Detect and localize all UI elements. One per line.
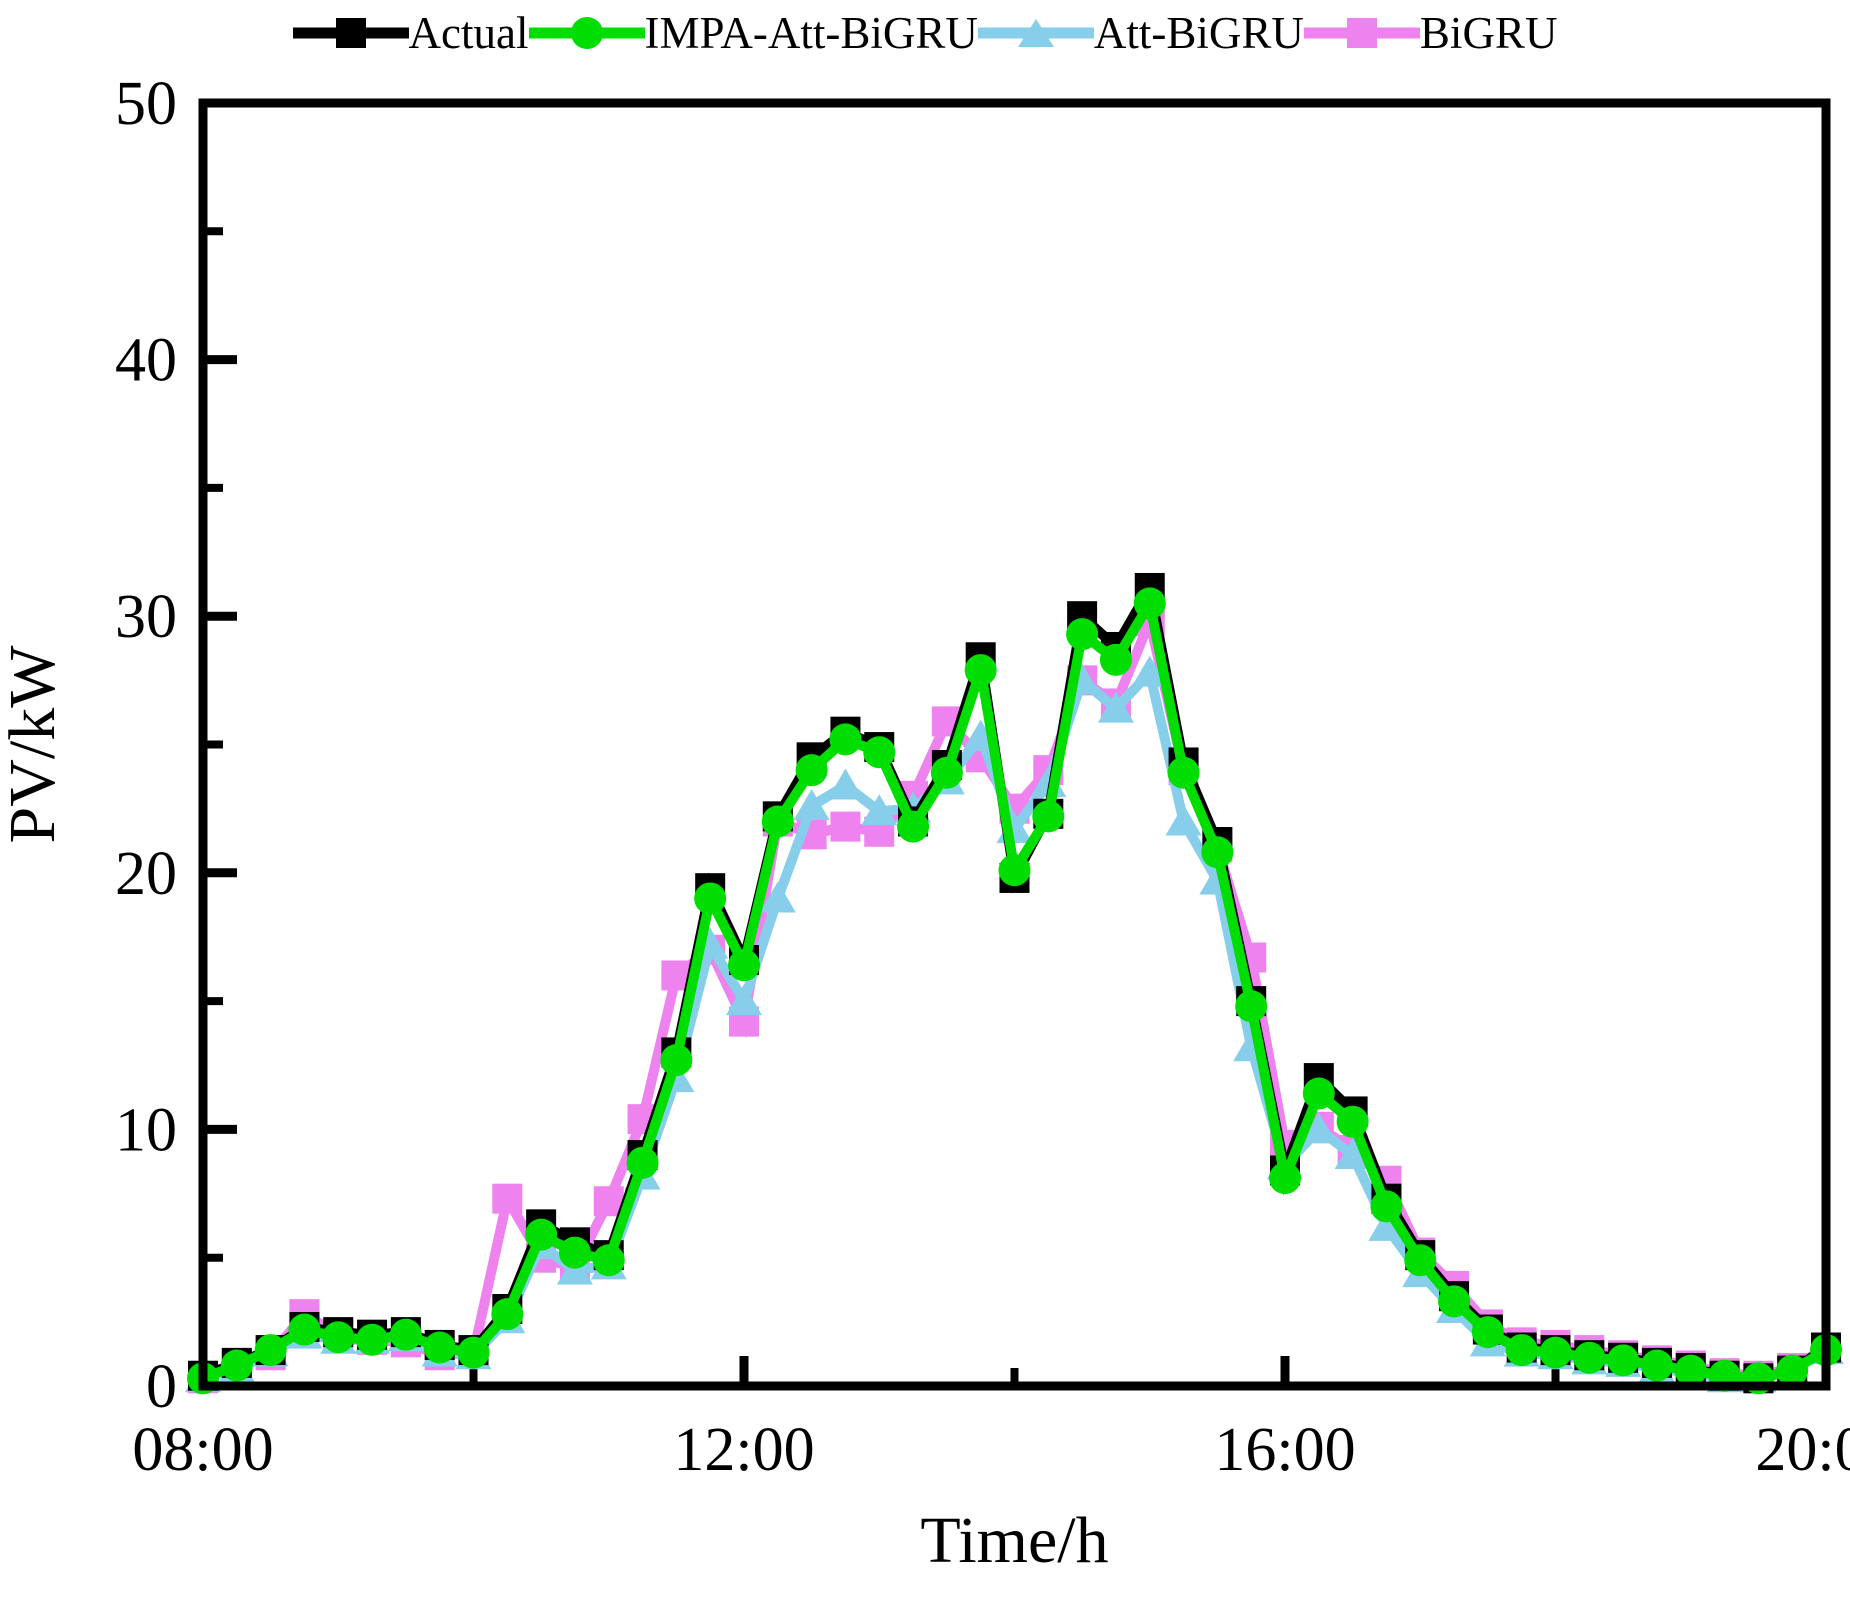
data-point-circle: [593, 1244, 625, 1276]
series-bigru: [188, 606, 1841, 1393]
data-point-circle: [1201, 836, 1233, 868]
data-point-circle: [1134, 587, 1166, 619]
data-point-circle: [424, 1332, 456, 1364]
data-point-circle: [1269, 1162, 1301, 1194]
data-point-circle: [1540, 1337, 1572, 1369]
data-point-circle: [829, 723, 861, 755]
data-point-circle: [1573, 1342, 1605, 1374]
data-point-circle: [1607, 1344, 1639, 1376]
data-point-circle: [356, 1324, 388, 1356]
y-axis-title: PV/kW: [0, 645, 69, 844]
data-point-circle: [1438, 1285, 1470, 1317]
data-point-circle: [1472, 1316, 1504, 1348]
x-tick-label: 20:00: [1755, 1416, 1850, 1484]
series-line: [203, 603, 1826, 1378]
series-group: [185, 573, 1844, 1394]
series-line: [203, 588, 1826, 1378]
data-point-circle: [1066, 618, 1098, 650]
data-point-circle: [288, 1314, 320, 1346]
chart-svg: 0102030405008:0012:0016:0020:00Time/hPV/…: [0, 0, 1850, 1610]
data-point-circle: [255, 1334, 287, 1366]
axes-group: [203, 103, 1826, 1386]
y-tick-label: 30: [115, 583, 177, 651]
data-point-circle: [1235, 990, 1267, 1022]
data-point-circle: [728, 949, 760, 981]
data-point-circle: [1506, 1334, 1538, 1366]
data-point-circle: [627, 1147, 659, 1179]
data-point-circle: [694, 882, 726, 914]
series-line: [203, 621, 1826, 1378]
data-point-circle: [491, 1298, 523, 1330]
plot-frame-overlay: [203, 103, 1826, 1386]
x-tick-label: 12:00: [673, 1416, 814, 1484]
data-point-circle: [1032, 800, 1064, 832]
y-tick-label: 0: [146, 1353, 177, 1421]
data-point-circle: [322, 1321, 354, 1353]
data-point-circle: [390, 1319, 422, 1351]
series-actual: [188, 573, 1841, 1393]
plot-frame: [203, 103, 1826, 1386]
data-point-circle: [762, 805, 794, 837]
y-tick-label: 10: [115, 1096, 177, 1164]
data-point-circle: [1100, 644, 1132, 676]
data-point-circle: [1303, 1077, 1335, 1109]
data-point-circle: [1370, 1190, 1402, 1222]
data-point-circle: [863, 736, 895, 768]
data-point-circle: [999, 854, 1031, 886]
y-tick-label: 20: [115, 840, 177, 908]
data-point-circle: [559, 1237, 591, 1269]
series-att-bigru: [185, 656, 1844, 1393]
y-tick-label: 50: [115, 70, 177, 138]
data-point-circle: [897, 811, 929, 843]
series-impa-att-bigru: [187, 587, 1842, 1394]
data-point-circle: [965, 654, 997, 686]
chart-figure: ActualIMPA-Att-BiGRUAtt-BiGRUBiGRU 01020…: [0, 0, 1850, 1610]
data-point-circle: [1168, 757, 1200, 789]
data-point-circle: [1404, 1244, 1436, 1276]
data-point-circle: [931, 757, 963, 789]
y-tick-label: 40: [115, 327, 177, 395]
data-point-circle: [1641, 1349, 1673, 1381]
data-point-circle: [458, 1337, 490, 1369]
series-line: [203, 673, 1826, 1379]
data-point-circle: [525, 1219, 557, 1251]
x-axis-title: Time/h: [920, 1504, 1108, 1577]
data-point-triangle: [827, 769, 863, 800]
data-point-circle: [660, 1044, 692, 1076]
data-point-square: [492, 1184, 522, 1214]
data-point-circle: [1337, 1106, 1369, 1138]
data-point-square: [830, 812, 860, 842]
data-point-circle: [796, 754, 828, 786]
x-tick-label: 08:00: [132, 1416, 273, 1484]
plot-area: 0102030405008:0012:0016:0020:00Time/hPV/…: [0, 0, 1850, 1610]
x-tick-label: 16:00: [1214, 1416, 1355, 1484]
data-point-circle: [221, 1349, 253, 1381]
